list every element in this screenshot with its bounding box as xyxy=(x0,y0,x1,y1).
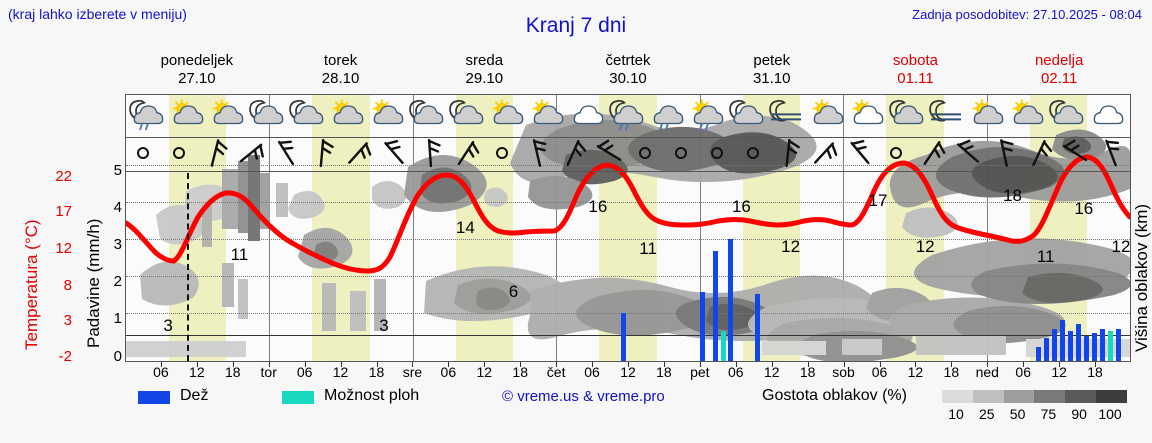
cloud-density-value-5: 100 xyxy=(1096,406,1124,422)
precipitation-tick-4: 1 xyxy=(100,310,122,327)
precipitation-bar-7 xyxy=(1044,338,1049,361)
wind-barb-19 xyxy=(807,137,843,171)
weather-forecast-page: (kraj lahko izberete v meniju) Kranj 7 d… xyxy=(0,0,1152,443)
precipitation-tick-0: 5 xyxy=(100,162,122,179)
precipitation-tick-1: 4 xyxy=(100,199,122,216)
cloud-density-gradient xyxy=(942,390,1127,403)
day-date: 27.10 xyxy=(125,70,269,88)
forecast-plot[interactable]: 311314616111612171218111612 xyxy=(125,94,1131,362)
cloud-density-step-1 xyxy=(973,390,1004,403)
wind-barb-26 xyxy=(1058,137,1094,171)
moon-cloud-rain-icon xyxy=(606,95,646,137)
time-tickmark-11 xyxy=(556,362,557,367)
temperature-value-label-10: 12 xyxy=(916,237,935,257)
time-tickmark-6 xyxy=(377,362,378,367)
day-date: 28.10 xyxy=(269,70,413,88)
wind-barb-10 xyxy=(485,137,521,171)
day-name: sreda xyxy=(412,52,556,70)
cloud-height-axis-title: Višina oblakov (km) xyxy=(1132,204,1152,352)
day-date: 29.10 xyxy=(412,70,556,88)
temperature-value-label-5: 16 xyxy=(588,197,607,217)
rain-legend-swatch xyxy=(138,391,170,404)
cloud-icon xyxy=(566,95,606,137)
time-tickmark-3 xyxy=(269,362,270,367)
temperature-value-label-0: 3 xyxy=(163,316,172,336)
moon-cloud-icon xyxy=(246,95,286,137)
time-tickmark-21 xyxy=(915,362,916,367)
time-tickmark-10 xyxy=(520,362,521,367)
time-tickmark-8 xyxy=(448,362,449,367)
time-tickmark-16 xyxy=(736,362,737,367)
wind-barb-16 xyxy=(700,137,736,171)
moon-fog-icon xyxy=(926,95,966,137)
precipitation-tick-5: 0 xyxy=(100,348,122,365)
moon-fog-icon xyxy=(766,95,806,137)
moon-cloud-icon xyxy=(1046,95,1086,137)
day-header-3: četrtek30.10 xyxy=(556,52,700,92)
time-tickmark-24 xyxy=(1023,362,1024,367)
temperature-tick-0: 22 xyxy=(38,168,72,185)
wind-barb-18 xyxy=(771,137,807,171)
sun-cloud-icon xyxy=(166,95,206,137)
time-tickmark-14 xyxy=(664,362,665,367)
day-header-1: torek28.10 xyxy=(269,52,413,92)
wind-barb-1 xyxy=(162,137,198,171)
day-name: sobota xyxy=(844,52,988,70)
cloud-density-step-0 xyxy=(942,390,973,403)
wind-barb-9 xyxy=(449,137,485,171)
precipitation-bar-11 xyxy=(1076,324,1081,361)
time-tickmark-17 xyxy=(772,362,773,367)
cloud-density-value-4: 90 xyxy=(1065,406,1093,422)
precipitation-bar-12 xyxy=(1084,336,1089,361)
temperature-value-label-9: 17 xyxy=(869,191,888,211)
temperature-value-label-7: 16 xyxy=(732,197,751,217)
temperature-tick-5: -2 xyxy=(38,348,72,365)
moon-cloud-icon xyxy=(406,95,446,137)
day-name: nedelja xyxy=(987,52,1131,70)
cloud-icon xyxy=(1126,95,1131,137)
cloud-density-step-2 xyxy=(1004,390,1035,403)
cloud-density-step-3 xyxy=(1034,390,1065,403)
last-update-text: Zadnja posodobitev: 27.10.2025 - 08:04 xyxy=(912,7,1142,22)
time-tickmark-23 xyxy=(987,362,988,367)
wind-barb-8 xyxy=(413,137,449,171)
wind-barb-11 xyxy=(520,137,556,171)
moon-cloud-rain-icon xyxy=(126,95,166,137)
cloud-density-value-2: 50 xyxy=(1004,406,1032,422)
wind-barb-22 xyxy=(915,137,951,171)
barb-row-divider xyxy=(126,171,1130,172)
precipitation-bar-15 xyxy=(1108,331,1113,361)
time-tickmark-5 xyxy=(341,362,342,367)
rain-legend-label: Dež xyxy=(180,387,208,405)
temperature-value-label-6: 11 xyxy=(639,239,657,259)
cloud-density-value-1: 25 xyxy=(973,406,1001,422)
time-tickmark-20 xyxy=(880,362,881,367)
precipitation-bar-8 xyxy=(1052,329,1057,361)
precipitation-bar-16 xyxy=(1116,329,1121,361)
temperature-value-label-2: 3 xyxy=(379,316,388,336)
cloud-density-value-0: 10 xyxy=(942,406,970,422)
wind-barb-24 xyxy=(987,137,1023,171)
weather-icon-row xyxy=(126,95,1130,137)
cloud-density-step-5 xyxy=(1096,390,1127,403)
sun-cloud-icon xyxy=(366,95,406,137)
wind-barb-14 xyxy=(628,137,664,171)
sun-cloud-icon xyxy=(206,95,246,137)
wind-barb-13 xyxy=(592,137,628,171)
sun-cloud-icon xyxy=(486,95,526,137)
temperature-value-label-13: 16 xyxy=(1074,199,1093,219)
sun-cloud-icon xyxy=(806,95,846,137)
day-header-strip: ponedeljek27.10torek28.10sreda29.10četrt… xyxy=(125,52,1131,92)
precipitation-bar-2 xyxy=(713,251,718,361)
time-tickmark-2 xyxy=(233,362,234,367)
day-date: 01.11 xyxy=(844,70,988,88)
precipitation-bar-14 xyxy=(1100,329,1105,361)
day-header-2: sreda29.10 xyxy=(412,52,556,92)
precipitation-bar-6 xyxy=(1036,347,1041,361)
day-header-0: ponedeljek27.10 xyxy=(125,52,269,92)
wind-barb-3 xyxy=(234,137,270,171)
time-tickmark-22 xyxy=(951,362,952,367)
precipitation-bar-5 xyxy=(755,294,760,361)
copyright-text[interactable]: © vreme.us & vreme.pro xyxy=(502,388,665,405)
temperature-value-label-8: 12 xyxy=(781,237,800,257)
sun-cloud-rain-icon xyxy=(686,95,726,137)
wind-barb-6 xyxy=(341,137,377,171)
time-tickmark-0 xyxy=(161,362,162,367)
sun-cloud-icon xyxy=(526,95,566,137)
wind-barb-15 xyxy=(664,137,700,171)
time-tickmark-1 xyxy=(197,362,198,367)
day-header-6: nedelja02.11 xyxy=(987,52,1131,92)
time-tickmark-26 xyxy=(1095,362,1096,367)
temperature-value-label-14: 12 xyxy=(1111,237,1130,257)
wind-barb-27 xyxy=(1094,137,1130,171)
temperature-tick-2: 12 xyxy=(38,240,72,257)
precipitation-baseline xyxy=(126,335,1130,336)
gridline-3 xyxy=(126,276,1130,277)
wind-barb-21 xyxy=(879,137,915,171)
wind-barb-7 xyxy=(377,137,413,171)
sun-cloud-icon xyxy=(326,95,366,137)
temperature-value-label-1: 11 xyxy=(231,245,249,265)
day-name: četrtek xyxy=(556,52,700,70)
day-name: petek xyxy=(700,52,844,70)
cloud-icon xyxy=(1086,95,1126,137)
temperature-value-label-12: 11 xyxy=(1037,247,1055,267)
wind-barb-5 xyxy=(305,137,341,171)
icon-row-divider xyxy=(126,137,1130,138)
temperature-tick-1: 17 xyxy=(38,203,72,220)
precipitation-bar-1 xyxy=(700,292,705,361)
day-name: ponedeljek xyxy=(125,52,269,70)
wind-barb-4 xyxy=(269,137,305,171)
cloud-density-label: Gostota oblakov (%) xyxy=(762,387,907,405)
sun-cloud-icon xyxy=(1006,95,1046,137)
day-date: 02.11 xyxy=(987,70,1131,88)
temperature-value-label-11: 18 xyxy=(1003,186,1022,206)
moon-cloud-icon xyxy=(286,95,326,137)
time-tickmark-13 xyxy=(628,362,629,367)
precipitation-bar-13 xyxy=(1092,333,1097,361)
temperature-value-label-3: 14 xyxy=(456,218,475,238)
day-header-4: petek31.10 xyxy=(700,52,844,92)
day-name: torek xyxy=(269,52,413,70)
gridline-2 xyxy=(126,239,1130,240)
wind-barb-25 xyxy=(1022,137,1058,171)
precipitation-tick-2: 3 xyxy=(100,236,122,253)
time-tickmark-18 xyxy=(808,362,809,367)
time-tickmark-19 xyxy=(844,362,845,367)
day-date: 30.10 xyxy=(556,70,700,88)
time-tickmark-15 xyxy=(700,362,701,367)
showers-legend-swatch xyxy=(282,391,314,404)
wind-barb-23 xyxy=(951,137,987,171)
sun-cloud-small-icon xyxy=(846,95,886,137)
sun-cloud-icon xyxy=(966,95,1006,137)
moon-cloud-icon xyxy=(446,95,486,137)
gridline-1 xyxy=(126,202,1130,203)
precipitation-bar-3 xyxy=(721,331,726,361)
wind-barb-2 xyxy=(198,137,234,171)
cloud-rain-icon xyxy=(646,95,686,137)
cloud-density-step-4 xyxy=(1065,390,1096,403)
time-tickmark-4 xyxy=(305,362,306,367)
time-tickmark-25 xyxy=(1059,362,1060,367)
moon-cloud-icon xyxy=(886,95,926,137)
precipitation-bar-10 xyxy=(1068,331,1073,361)
day-header-5: sobota01.11 xyxy=(844,52,988,92)
temperature-tick-3: 8 xyxy=(38,277,72,294)
cloud-density-value-3: 75 xyxy=(1034,406,1062,422)
wind-barb-row xyxy=(126,137,1130,171)
current-time-marker xyxy=(187,173,189,361)
day-date: 31.10 xyxy=(700,70,844,88)
precipitation-tick-3: 2 xyxy=(100,273,122,290)
wind-barb-12 xyxy=(556,137,592,171)
temperature-value-label-4: 6 xyxy=(509,282,518,302)
precipitation-bar-4 xyxy=(728,239,733,361)
time-tickmark-12 xyxy=(592,362,593,367)
time-tickmark-7 xyxy=(412,362,413,367)
temperature-tick-4: 3 xyxy=(38,312,72,329)
precipitation-bar-0 xyxy=(621,313,626,361)
wind-barb-0 xyxy=(126,137,162,171)
precipitation-bar-9 xyxy=(1060,320,1065,361)
moon-cloud-icon xyxy=(726,95,766,137)
time-tickmark-9 xyxy=(484,362,485,367)
showers-legend-label: Možnost ploh xyxy=(324,387,419,405)
wind-barb-17 xyxy=(736,137,772,171)
wind-barb-20 xyxy=(843,137,879,171)
gridline-4 xyxy=(126,313,1130,314)
